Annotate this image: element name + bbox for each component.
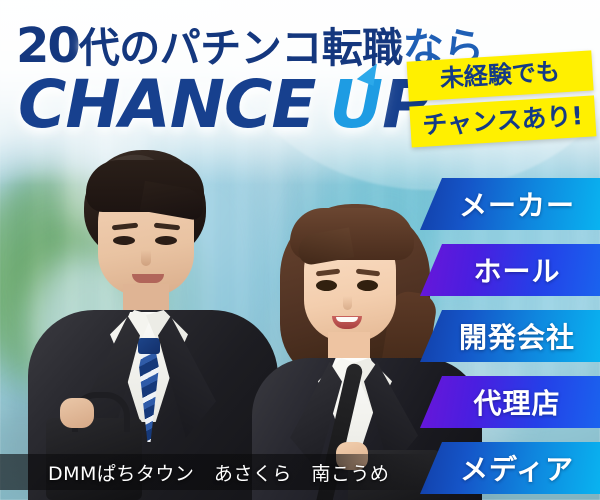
man-nose bbox=[141, 250, 151, 266]
man-tie-knot bbox=[138, 338, 160, 354]
category-bar-hall[interactable]: ホール bbox=[420, 244, 600, 296]
category-list: メーカー ホール 開発会社 代理店 メディア bbox=[420, 178, 600, 494]
woman-eye-left bbox=[316, 280, 337, 291]
category-bar-developer[interactable]: 開発会社 bbox=[420, 310, 600, 362]
photo-businessman bbox=[28, 150, 278, 500]
caption-text: DMMぱちタウン あさくら 南こうめ bbox=[0, 459, 389, 486]
woman-fringe bbox=[290, 208, 414, 260]
category-label: メディア bbox=[446, 448, 574, 488]
man-fringe bbox=[86, 160, 204, 212]
man-eye-left bbox=[113, 236, 135, 245]
woman-nose bbox=[343, 296, 352, 310]
woman-eye-right bbox=[357, 280, 378, 291]
headline-main: 代のパチンコ転職 bbox=[79, 24, 403, 72]
logo-u-arrow-icon: U bbox=[330, 66, 383, 143]
advertisement-banner[interactable]: 20代のパチンコ転職なら CHANCEUP 未経験でも チャンスあり! メーカー… bbox=[0, 0, 600, 500]
category-label: 代理店 bbox=[459, 382, 560, 422]
caption-bar: DMMぱちタウン あさくら 南こうめ bbox=[0, 454, 430, 490]
category-label: メーカー bbox=[445, 184, 575, 224]
brand-logo: CHANCEUP bbox=[18, 66, 429, 143]
promo-badge: 未経験でも チャンスあり! bbox=[407, 50, 597, 147]
man-hand bbox=[60, 398, 94, 428]
logo-chance: CHANCE bbox=[18, 66, 316, 143]
man-eye-right bbox=[155, 236, 177, 245]
category-bar-maker[interactable]: メーカー bbox=[420, 178, 600, 230]
category-label: 開発会社 bbox=[445, 316, 575, 356]
man-mouth bbox=[132, 274, 164, 283]
category-label: ホール bbox=[459, 250, 560, 290]
category-bar-agency[interactable]: 代理店 bbox=[420, 376, 600, 428]
category-bar-media[interactable]: メディア bbox=[420, 442, 600, 494]
